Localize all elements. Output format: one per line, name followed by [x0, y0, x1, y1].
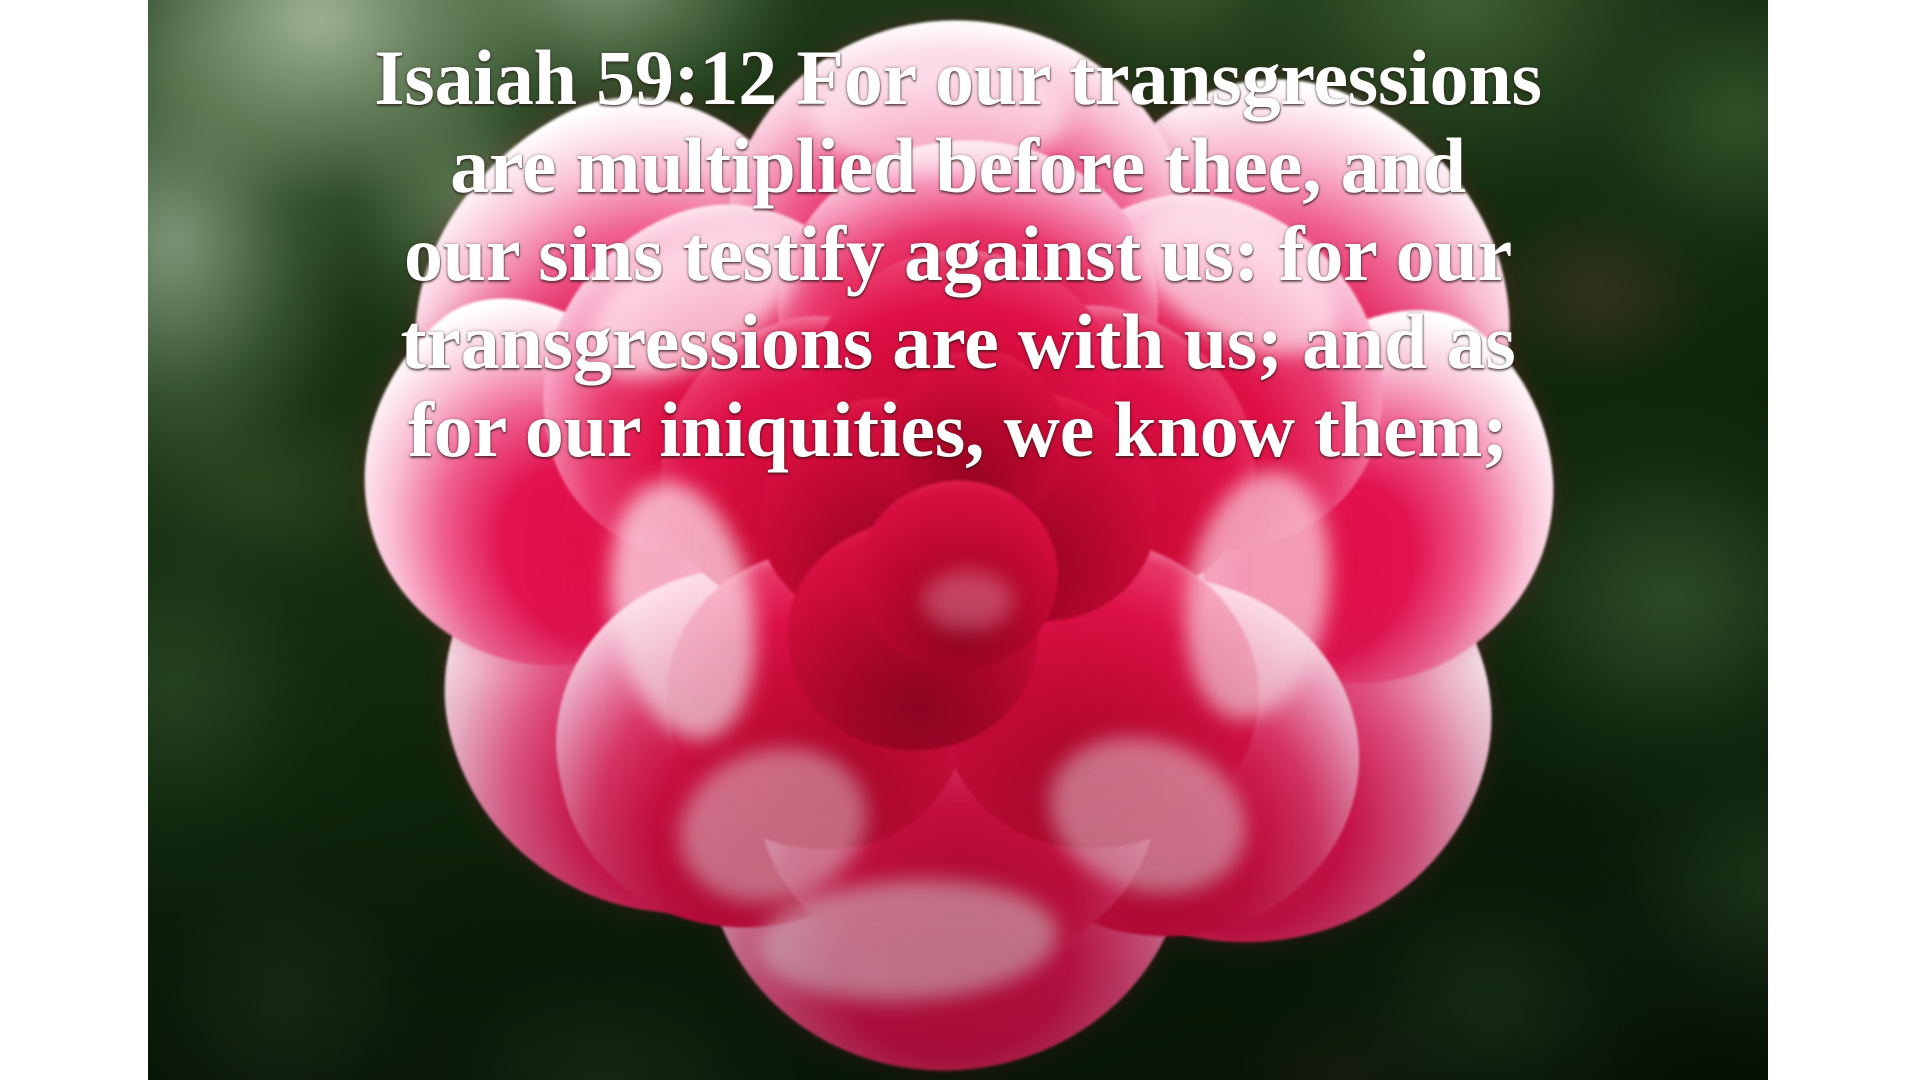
right-margin: [1768, 0, 1920, 1080]
page-canvas: Isaiah 59:12 For our transgressions are …: [0, 0, 1920, 1080]
rose-photograph: [148, 0, 1768, 1080]
left-margin: [0, 0, 148, 1080]
rose-blossom: [428, 50, 1488, 1070]
